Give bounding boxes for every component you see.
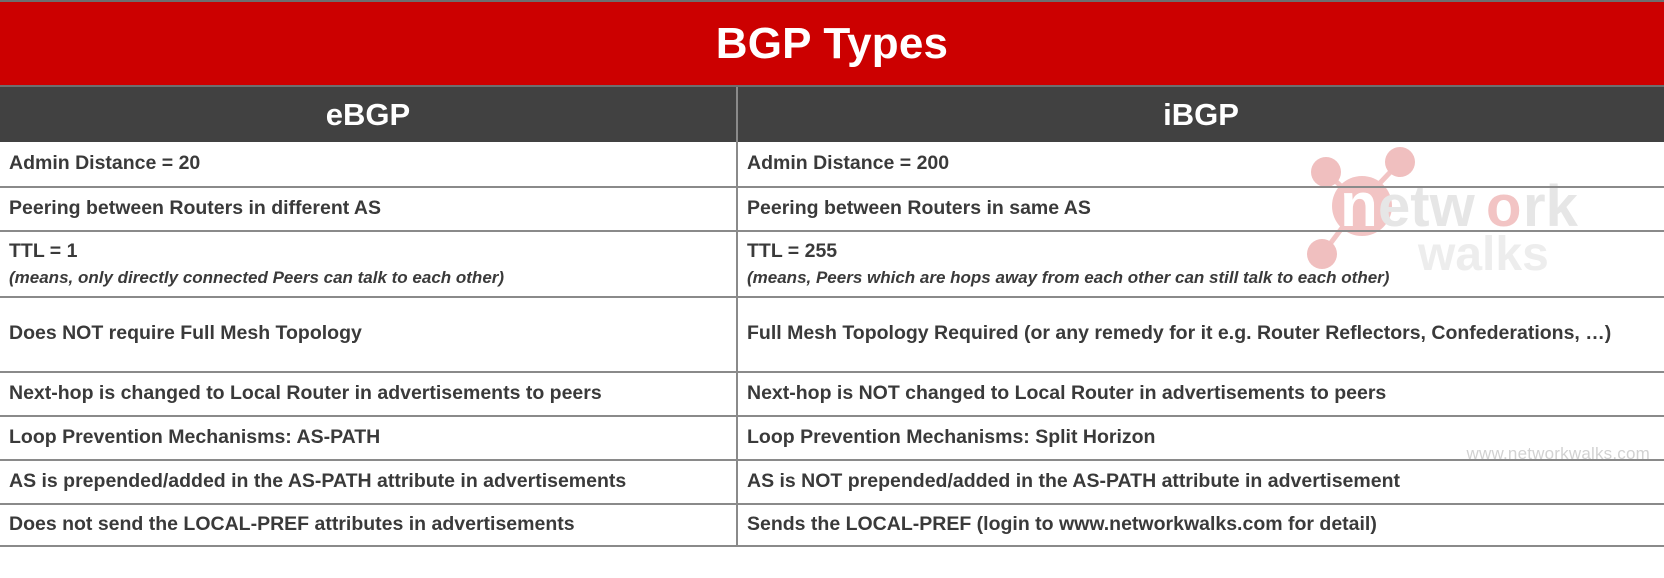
- cell-main-text: TTL = 1: [9, 239, 727, 265]
- table-row: Does not send the LOCAL-PREF attributes …: [0, 503, 1664, 547]
- column-header-ebgp-label: eBGP: [326, 99, 410, 130]
- table-row: Does NOT require Full Mesh Topology Full…: [0, 296, 1664, 371]
- page-title: BGP Types: [716, 22, 948, 66]
- cell-main-text: AS is prepended/added in the AS-PATH att…: [9, 469, 727, 495]
- table-cell-ibgp: Peering between Routers in same AS: [738, 188, 1664, 230]
- cell-main-text: Peering between Routers in different AS: [9, 196, 727, 222]
- table-body: Admin Distance = 20 Admin Distance = 200…: [0, 142, 1664, 547]
- table-header-row: eBGP iBGP: [0, 85, 1664, 142]
- cell-main-text: Does NOT require Full Mesh Topology: [9, 321, 727, 347]
- cell-main-text: Next-hop is NOT changed to Local Router …: [747, 381, 1655, 407]
- table-cell-ebgp: Does NOT require Full Mesh Topology: [0, 298, 738, 371]
- table-cell-ibgp: Admin Distance = 200: [738, 142, 1664, 186]
- table-cell-ebgp: Admin Distance = 20: [0, 142, 738, 186]
- column-header-ibgp-label: iBGP: [1163, 99, 1239, 130]
- table-cell-ibgp: TTL = 255 (means, Peers which are hops a…: [738, 232, 1664, 296]
- bgp-types-comparison-page: BGP Types eBGP iBGP n etw o rk walks: [0, 0, 1664, 578]
- table-cell-ebgp: Does not send the LOCAL-PREF attributes …: [0, 505, 738, 545]
- column-header-ebgp: eBGP: [0, 87, 738, 142]
- cell-main-text: Admin Distance = 200: [747, 151, 1655, 177]
- table-row: Peering between Routers in different AS …: [0, 186, 1664, 230]
- page-title-bar: BGP Types: [0, 0, 1664, 85]
- table-cell-ibgp: Full Mesh Topology Required (or any reme…: [738, 298, 1664, 371]
- table-cell-ibgp: Sends the LOCAL-PREF (login to www.netwo…: [738, 505, 1664, 545]
- table-cell-ibgp: AS is NOT prepended/added in the AS-PATH…: [738, 461, 1664, 503]
- cell-main-text: Full Mesh Topology Required (or any reme…: [747, 321, 1655, 347]
- cell-main-text: Admin Distance = 20: [9, 151, 727, 177]
- table-cell-ebgp: TTL = 1 (means, only directly connected …: [0, 232, 738, 296]
- cell-main-text: Does not send the LOCAL-PREF attributes …: [9, 512, 727, 538]
- table-row: Next-hop is changed to Local Router in a…: [0, 371, 1664, 415]
- table-row: Admin Distance = 20 Admin Distance = 200: [0, 142, 1664, 186]
- cell-main-text: AS is NOT prepended/added in the AS-PATH…: [747, 469, 1655, 495]
- table-cell-ebgp: Next-hop is changed to Local Router in a…: [0, 373, 738, 415]
- table-cell-ebgp: Peering between Routers in different AS: [0, 188, 738, 230]
- table-row: TTL = 1 (means, only directly connected …: [0, 230, 1664, 296]
- cell-main-text: Sends the LOCAL-PREF (login to www.netwo…: [747, 512, 1655, 538]
- table-cell-ibgp: Loop Prevention Mechanisms: Split Horizo…: [738, 417, 1664, 459]
- cell-main-text: Loop Prevention Mechanisms: AS-PATH: [9, 425, 727, 451]
- cell-note-text: (means, Peers which are hops away from e…: [747, 267, 1655, 289]
- cell-main-text: Loop Prevention Mechanisms: Split Horizo…: [747, 425, 1655, 451]
- table-cell-ebgp: Loop Prevention Mechanisms: AS-PATH: [0, 417, 738, 459]
- table-cell-ebgp: AS is prepended/added in the AS-PATH att…: [0, 461, 738, 503]
- column-header-ibgp: iBGP: [738, 87, 1664, 142]
- table-row: Loop Prevention Mechanisms: AS-PATH Loop…: [0, 415, 1664, 459]
- table-cell-ibgp: Next-hop is NOT changed to Local Router …: [738, 373, 1664, 415]
- cell-main-text: Peering between Routers in same AS: [747, 196, 1655, 222]
- cell-note-text: (means, only directly connected Peers ca…: [9, 267, 727, 289]
- cell-main-text: TTL = 255: [747, 239, 1655, 265]
- cell-main-text: Next-hop is changed to Local Router in a…: [9, 381, 727, 407]
- table-row: AS is prepended/added in the AS-PATH att…: [0, 459, 1664, 503]
